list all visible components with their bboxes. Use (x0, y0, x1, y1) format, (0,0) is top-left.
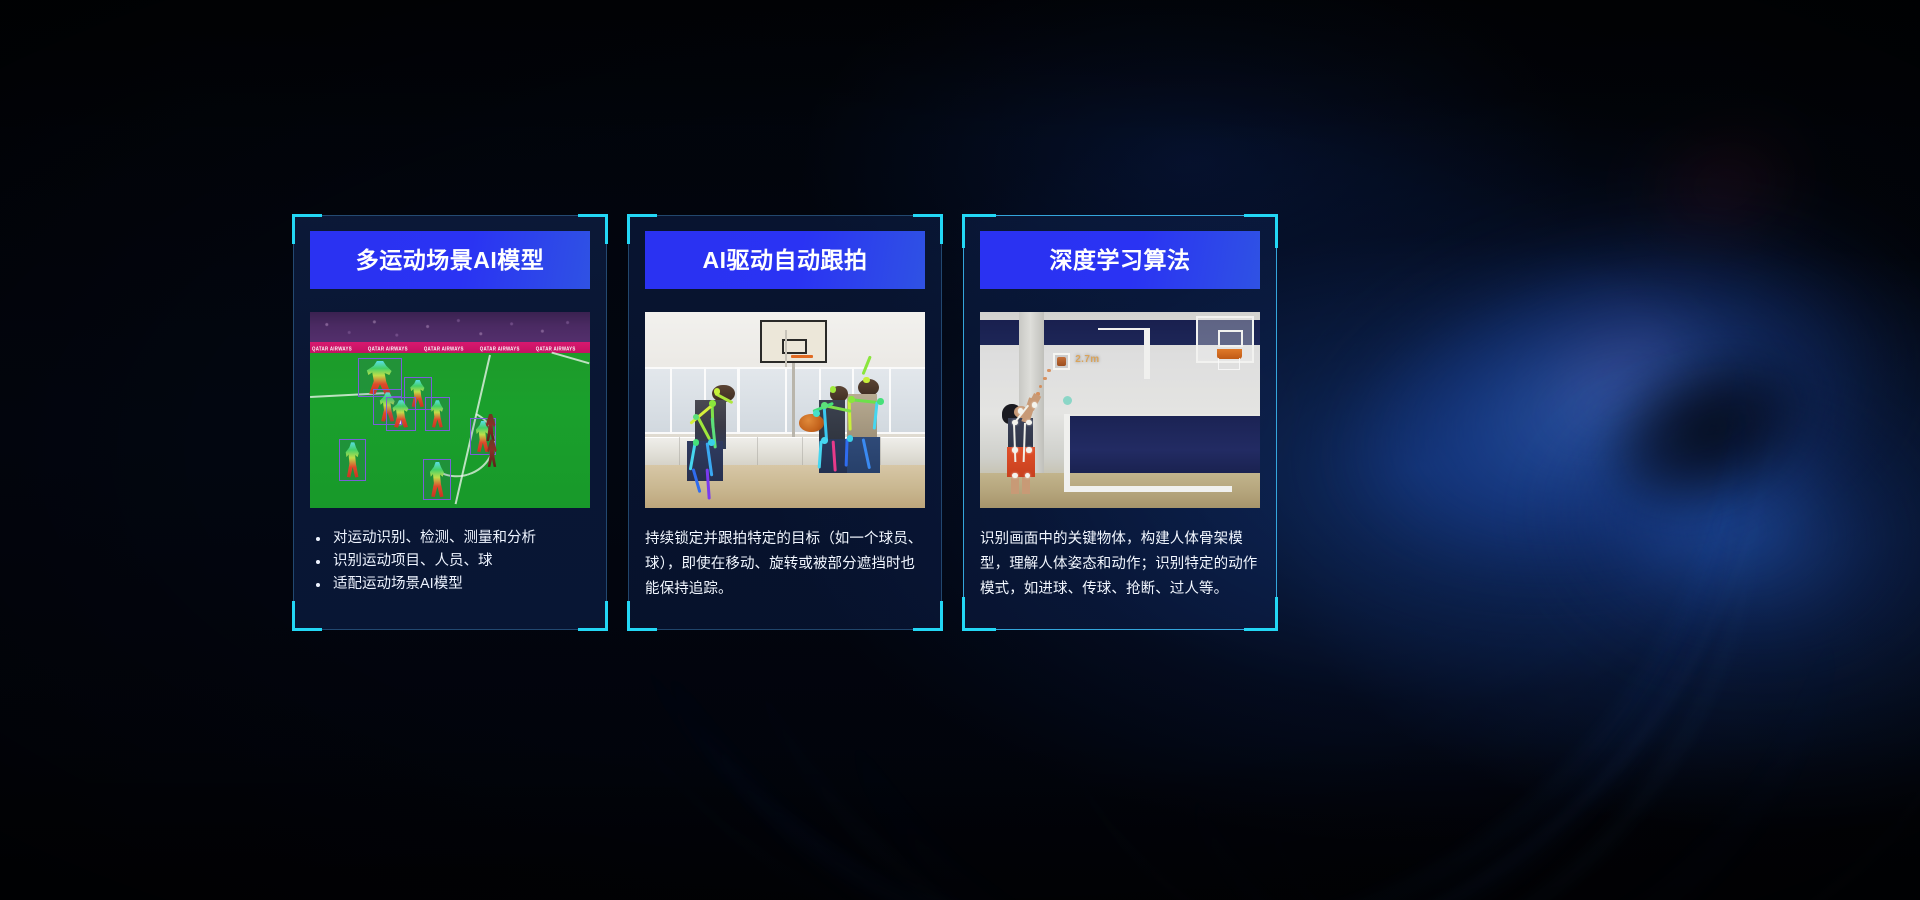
hoop-rim (791, 355, 813, 358)
pose-joint (848, 396, 855, 403)
list-item: 对运动识别、检测、测量和分析 (310, 527, 590, 550)
detection-box (423, 459, 451, 500)
pose-joint (821, 437, 828, 444)
card-description: 识别画面中的关键物体，构建人体骨架模型，理解人体姿态和动作；识别特定的动作模式，… (980, 527, 1260, 602)
advertising-board-text: QATAR AIRWAYS (408, 346, 464, 352)
pose-keypoint (1032, 402, 1038, 408)
card-body: 持续锁定并跟拍特定的目标（如一个球员、球），即使在移动、旋转或被部分遮挡时也能保… (645, 527, 925, 616)
basketball (799, 414, 824, 432)
feature-cards-row: 多运动场景AI模型 QATAR AIRWAYS QATAR AIRWAYS QA… (293, 215, 1277, 630)
list-item: 识别运动项目、人员、球 (310, 550, 590, 573)
card-body: 对运动识别、检测、测量和分析 识别运动项目、人员、球 适配运动场景AI模型 (310, 527, 590, 616)
pose-joint (714, 388, 721, 395)
detection-box (339, 439, 366, 480)
light-streak (1224, 484, 1920, 900)
pose-joint (821, 402, 828, 409)
pose-keypoint (1018, 408, 1024, 414)
advertising-board-text: QATAR AIRWAYS (352, 346, 408, 352)
card-header: AI驱动自动跟拍 (645, 231, 925, 289)
pose-keypoint (1026, 420, 1032, 426)
pose-keypoint (1012, 420, 1018, 426)
pose-joint (863, 377, 870, 384)
pose-joint (709, 400, 716, 407)
detection-box (386, 397, 417, 430)
feature-card-ai-auto-tracking[interactable]: AI驱动自动跟拍 (628, 215, 942, 630)
pose-keypoint (1026, 447, 1032, 453)
shot-analysis-image: 2.7m (980, 312, 1260, 508)
detection-box (425, 397, 450, 430)
pose-keypoint (1012, 473, 1018, 479)
ball-tracking-box (1053, 353, 1070, 370)
warm-accent-glow (1470, 251, 1769, 500)
advertising-board-text: QATAR AIRWAYS (520, 346, 576, 352)
card-description: 持续锁定并跟拍特定的目标（如一个球员、球），即使在移动、旋转或被部分遮挡时也能保… (645, 527, 925, 602)
pose-joint (813, 410, 820, 417)
pose-joint (877, 398, 884, 405)
basketball-pose-image (645, 312, 925, 508)
feature-card-multi-sport-ai-model[interactable]: 多运动场景AI模型 QATAR AIRWAYS QATAR AIRWAYS QA… (293, 215, 607, 630)
card-title: 深度学习算法 (1050, 249, 1191, 272)
feature-bullet-list: 对运动识别、检测、测量和分析 识别运动项目、人员、球 适配运动场景AI模型 (310, 527, 590, 596)
blue-swoosh-blob (1431, 263, 1920, 796)
soccer-detection-image: QATAR AIRWAYS QATAR AIRWAYS QATAR AIRWAY… (310, 312, 590, 508)
pose-joint (847, 435, 854, 442)
card-header: 多运动场景AI模型 (310, 231, 590, 289)
warm-accent-glow (1596, 88, 1855, 283)
card-header: 深度学习算法 (980, 231, 1260, 289)
pose-keypoint (1012, 447, 1018, 453)
pose-joint (708, 439, 715, 446)
advertising-board-text: QATAR AIRWAYS (310, 346, 352, 352)
list-item: 适配运动场景AI模型 (310, 573, 590, 596)
distance-measure-label: 2.7m (1075, 354, 1099, 365)
feature-card-deep-learning-algorithm[interactable]: 深度学习算法 (963, 215, 1277, 630)
advertising-board-text: QATAR AIRWAYS (576, 346, 590, 352)
pose-joint (693, 439, 700, 446)
tracked-object-marker (1063, 396, 1072, 405)
pose-bone (844, 439, 848, 467)
card-title: 多运动场景AI模型 (356, 249, 545, 272)
swoosh-dark-core (1532, 278, 1887, 583)
advertising-board-text: QATAR AIRWAYS (464, 346, 520, 352)
slide-canvas: 多运动场景AI模型 QATAR AIRWAYS QATAR AIRWAYS QA… (0, 0, 1920, 900)
card-body: 识别画面中的关键物体，构建人体骨架模型，理解人体姿态和动作；识别特定的动作模式，… (980, 527, 1260, 616)
card-title: AI驱动自动跟拍 (703, 249, 868, 272)
